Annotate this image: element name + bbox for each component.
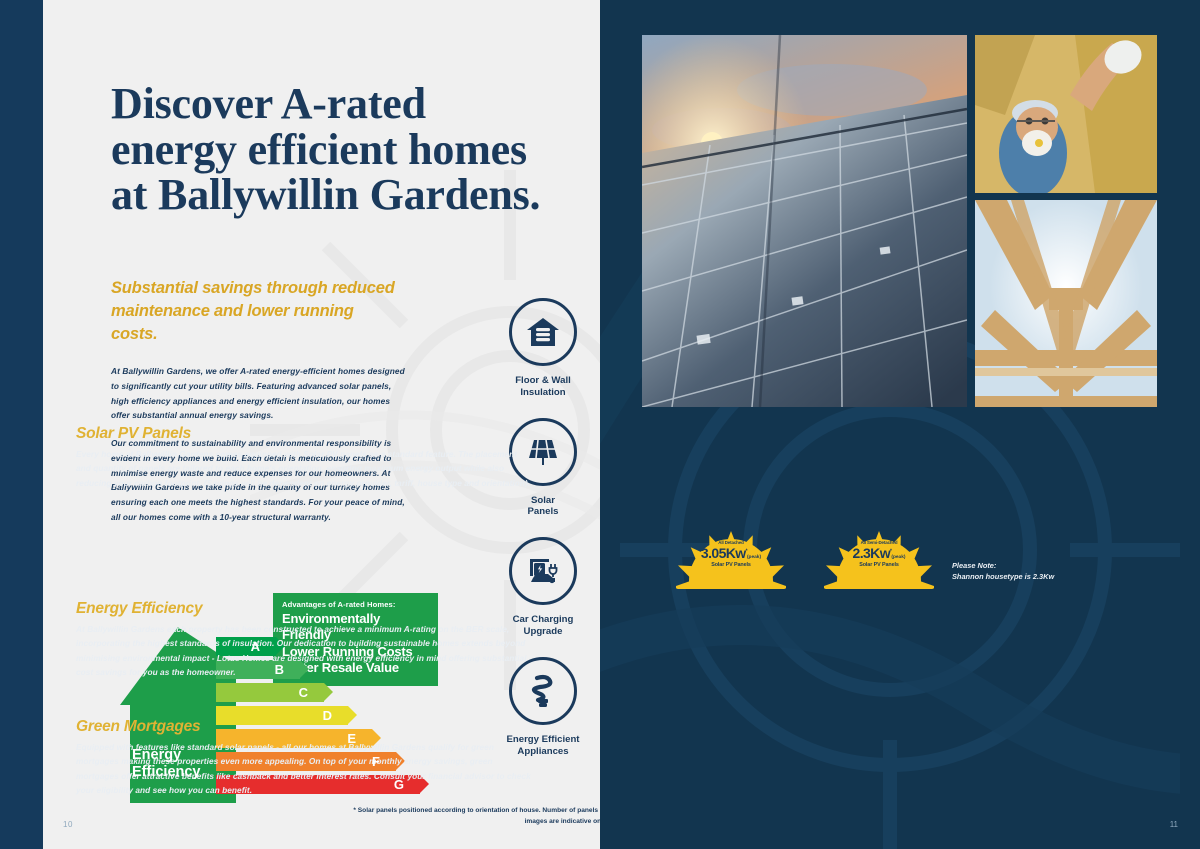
epc-band-c: C (216, 683, 324, 702)
subheadline: Substantial savings through reduced main… (111, 277, 401, 345)
ev-charger-icon (509, 537, 577, 605)
page-number-left: 10 (63, 820, 73, 829)
kw-badge-value: 3.05Kw*(peak) (689, 546, 773, 561)
solar-panel-array-photo (642, 35, 967, 407)
kw-value-unit: (peak) (891, 555, 905, 560)
paragraph-1: At Ballywillin Gardens, we offer A-rated… (111, 364, 411, 423)
kw-badge-value: 2.3Kw*(peak) (837, 546, 921, 561)
section-title-solar: Solar PV Panels (76, 425, 531, 443)
kw-value-number: 2.3Kw (853, 545, 890, 561)
feature-icon-list: Floor & Wall Insulation Solar Panels (483, 298, 600, 776)
epc-band-grade: D (323, 708, 332, 723)
kw-badge-bottom-line: Solar PV Panels (689, 562, 773, 568)
section-title-energy: Energy Efficiency (76, 600, 531, 618)
epc-band-grade: C (299, 685, 308, 700)
roof-timber-frame-photo (975, 200, 1157, 407)
section-body-energy: At Ballywillin Gardens each property has… (76, 622, 531, 679)
kw-badge-group: All Detached3.05Kw*(peak)Solar PV Panels… (676, 527, 936, 589)
section-title-mortgages: Green Mortgages (76, 718, 531, 736)
brochure-spread: Discover A-rated energy efficient homes … (0, 0, 1200, 849)
insulation-installer-photo (975, 35, 1157, 193)
house-insulation-icon (509, 298, 577, 366)
kw-badge-text: All Semi-Detached2.3Kw*(peak)Solar PV Pa… (837, 541, 921, 568)
feature-label-insulation: Floor & Wall Insulation (483, 375, 600, 399)
right-page: 11 (600, 0, 1200, 849)
section-energy-efficiency: Energy Efficiency At Ballywillin Gardens… (76, 600, 531, 679)
please-note-text: Shannon housetype is 2.3Kw (952, 571, 1102, 582)
kw-value-unit: (peak) (747, 555, 761, 560)
epc-band-grade: F (372, 754, 380, 769)
epc-band-grade: B (275, 662, 284, 677)
kw-badge: All Semi-Detached2.3Kw*(peak)Solar PV Pa… (824, 527, 934, 589)
feature-label-solar-panels: Solar Panels (483, 495, 600, 519)
left-edge-band (0, 0, 43, 849)
kw-badge: All Detached3.05Kw*(peak)Solar PV Panels (676, 527, 786, 589)
footnote: * Solar panels positioned according to o… (343, 806, 600, 827)
section-solar-pv-panels: Solar PV Panels Every home at Ballywilli… (76, 425, 531, 490)
section-body-solar: Every home at Ballywillin Gardens comes … (76, 447, 531, 490)
epc-band-grade: E (347, 731, 356, 746)
kw-badge-bottom-line: Solar PV Panels (837, 562, 921, 568)
page-title: Discover A-rated energy efficient homes … (111, 81, 551, 217)
kw-badge-text: All Detached3.05Kw*(peak)Solar PV Panels (689, 541, 773, 568)
please-note: Please Note: Shannon housetype is 2.3Kw (952, 560, 1102, 583)
page-number-right: 11 (1170, 820, 1178, 829)
please-note-title: Please Note: (952, 560, 1102, 571)
kw-value-number: 3.05Kw (701, 545, 746, 561)
feature-item-insulation: Floor & Wall Insulation (483, 298, 600, 399)
epc-band-grade: G (394, 777, 404, 792)
kw-value-sup: * (746, 548, 747, 554)
epc-band-arrow (324, 683, 333, 701)
energy-efficiency-label: EnergyEfficiency (132, 747, 201, 782)
epc-band-grade: A (251, 639, 260, 654)
kw-value-sup: * (890, 548, 891, 554)
